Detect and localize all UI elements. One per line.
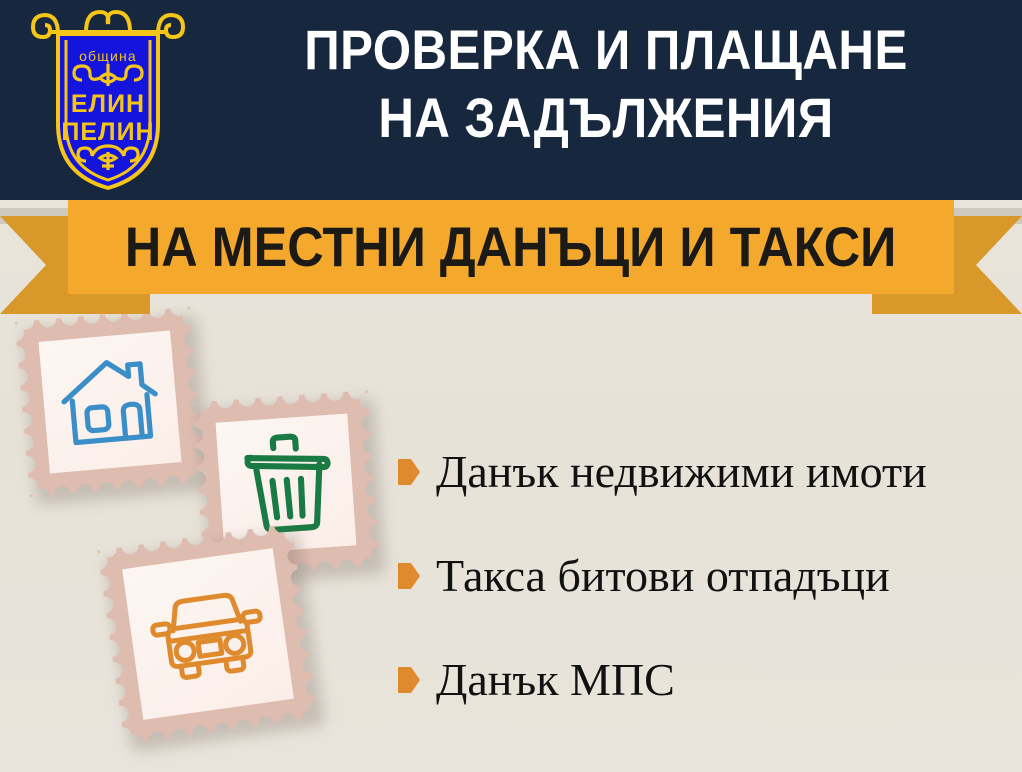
header-bar: община ЕЛИН ПЕЛИН <box>0 0 1022 200</box>
municipality-logo: община ЕЛИН ПЕЛИН <box>24 6 192 194</box>
ribbon-fold-left <box>68 294 128 314</box>
poster-root: община ЕЛИН ПЕЛИН <box>0 0 1022 772</box>
list-item: Такса битови отпадъци <box>398 524 1018 628</box>
list-item-label: Данък МПС <box>436 655 675 705</box>
title-line-1: ПРОВЕРКА И ПЛАЩАНЕ <box>249 18 964 82</box>
svg-text:община: община <box>79 48 137 64</box>
ribbon-band: НА МЕСТНИ ДАНЪЦИ И ТАКСИ <box>68 200 954 294</box>
stamp-card-group <box>0 300 420 772</box>
svg-text:ПЕЛИН: ПЕЛИН <box>61 118 154 146</box>
arrow-bullet-icon <box>398 563 420 589</box>
list-item: Данък МПС <box>398 628 1018 732</box>
poster-title: ПРОВЕРКА И ПЛАЩАНЕ НА ЗАДЪЛЖЕНИЯ <box>200 18 1012 150</box>
house-icon <box>15 307 206 498</box>
stamp-card-vehicle <box>97 523 318 744</box>
ribbon-text: НА МЕСТНИ ДАНЪЦИ И ТАКСИ <box>125 218 896 276</box>
list-item-label: Такса битови отпадъци <box>436 551 890 601</box>
svg-text:ЕЛИН: ЕЛИН <box>71 90 145 118</box>
list-item-label: Данък недвижими имоти <box>436 447 927 497</box>
tax-type-list: Данък недвижими имоти Такса битови отпад… <box>398 420 1018 732</box>
ribbon-fold-right <box>894 294 954 314</box>
title-line-2: НА ЗАДЪЛЖЕНИЯ <box>249 86 964 150</box>
car-front-icon <box>97 523 318 744</box>
arrow-bullet-icon <box>398 459 420 485</box>
stamp-card-property <box>15 307 206 498</box>
arrow-bullet-icon <box>398 667 420 693</box>
subtitle-ribbon: НА МЕСТНИ ДАНЪЦИ И ТАКСИ <box>0 196 1022 314</box>
list-item: Данък недвижими имоти <box>398 420 1018 524</box>
